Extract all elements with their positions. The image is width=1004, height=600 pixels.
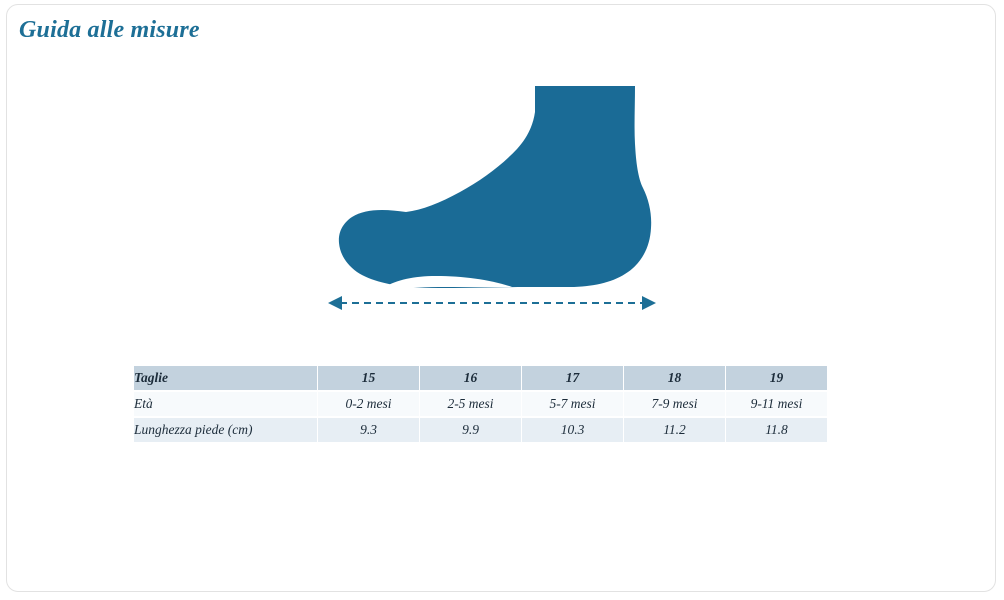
cell-eta-19: 9-11 mesi [726, 392, 827, 416]
dimension-arrowhead-right [642, 296, 656, 310]
cell-eta-15: 0-2 mesi [318, 392, 419, 416]
row-label-lunghezza-piede: Lunghezza piede (cm) [134, 418, 317, 442]
foot-length-dimension-arrow [328, 296, 656, 310]
column-header-size-17: 17 [522, 366, 623, 390]
column-header-size-19: 19 [726, 366, 827, 390]
cell-lunghezza-17: 10.3 [522, 418, 623, 442]
column-header-taglie: Taglie [134, 366, 317, 390]
foot-illustration [322, 82, 662, 317]
dimension-arrowhead-left [328, 296, 342, 310]
table-row: Lunghezza piede (cm) 9.3 9.9 10.3 11.2 1… [134, 418, 827, 442]
column-header-size-18: 18 [624, 366, 725, 390]
cell-eta-16: 2-5 mesi [420, 392, 521, 416]
foot-silhouette-shape [339, 86, 651, 288]
page-title: Guida alle misure [19, 17, 200, 44]
cell-lunghezza-18: 11.2 [624, 418, 725, 442]
cell-eta-18: 7-9 mesi [624, 392, 725, 416]
cell-lunghezza-16: 9.9 [420, 418, 521, 442]
table-row: Età 0-2 mesi 2-5 mesi 5-7 mesi 7-9 mesi … [134, 392, 827, 416]
column-header-size-16: 16 [420, 366, 521, 390]
cell-lunghezza-15: 9.3 [318, 418, 419, 442]
cell-lunghezza-19: 11.8 [726, 418, 827, 442]
table-header-row: Taglie 15 16 17 18 19 [134, 366, 827, 390]
column-header-size-15: 15 [318, 366, 419, 390]
cell-eta-17: 5-7 mesi [522, 392, 623, 416]
row-label-eta: Età [134, 392, 317, 416]
size-table: Taglie 15 16 17 18 19 Età 0-2 mesi 2-5 m… [133, 364, 828, 444]
size-guide-page: Guida alle misure Taglie [0, 0, 1004, 600]
